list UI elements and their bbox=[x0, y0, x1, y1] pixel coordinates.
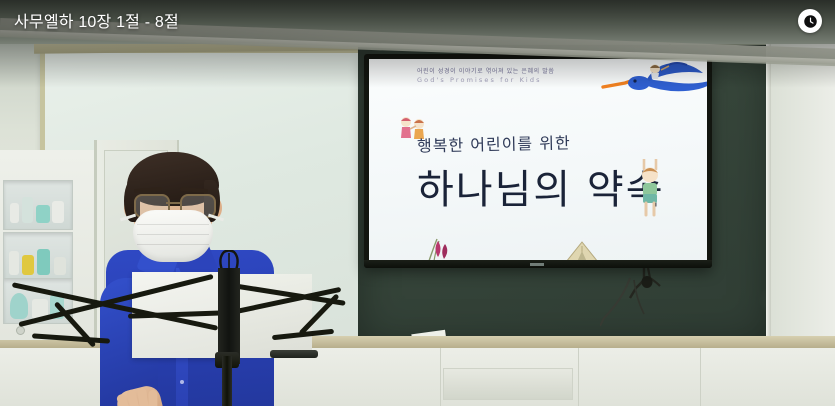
video-player-frame: 어린이 성경이 이야기로 엮어져 있는 은혜의 말씀 God's Promise… bbox=[0, 0, 835, 406]
stand-tray-eraser bbox=[270, 350, 318, 358]
video-title[interactable]: 사무엘하 10장 1절 - 8절 bbox=[14, 8, 179, 32]
watch-later-clock-icon[interactable] bbox=[798, 9, 822, 33]
right-wall bbox=[770, 38, 835, 338]
stand-spine bbox=[218, 268, 240, 364]
presentation-screen: 어린이 성경이 이야기로 엮어져 있는 은혜의 말씀 God's Promise… bbox=[364, 54, 712, 268]
classroom-scene: 어린이 성경이 이야기로 엮어져 있는 은혜의 말씀 God's Promise… bbox=[0, 0, 835, 406]
hanging-child-icon bbox=[637, 159, 663, 217]
slide-title: 하나님의 약속 bbox=[417, 157, 665, 215]
slide-surface: 어린이 성경이 이야기로 엮어져 있는 은혜의 말씀 God's Promise… bbox=[369, 59, 707, 261]
pink-flower-icon bbox=[425, 235, 455, 261]
cabinet-panel bbox=[443, 368, 573, 400]
clock-glyph bbox=[803, 14, 818, 29]
stand-pole bbox=[222, 356, 232, 406]
tent-icon bbox=[565, 241, 599, 261]
lyre-finial-icon bbox=[216, 250, 242, 270]
shelf-top bbox=[3, 180, 73, 230]
music-stand bbox=[10, 260, 340, 406]
flying-stork-icon bbox=[595, 61, 707, 107]
slide-subtitle: 행복한 어린이를 위한 bbox=[417, 129, 571, 156]
wall-corner-edge bbox=[766, 38, 771, 340]
hanging-cable bbox=[600, 274, 670, 340]
screen-indicator bbox=[530, 263, 544, 266]
face-mask bbox=[133, 210, 213, 262]
